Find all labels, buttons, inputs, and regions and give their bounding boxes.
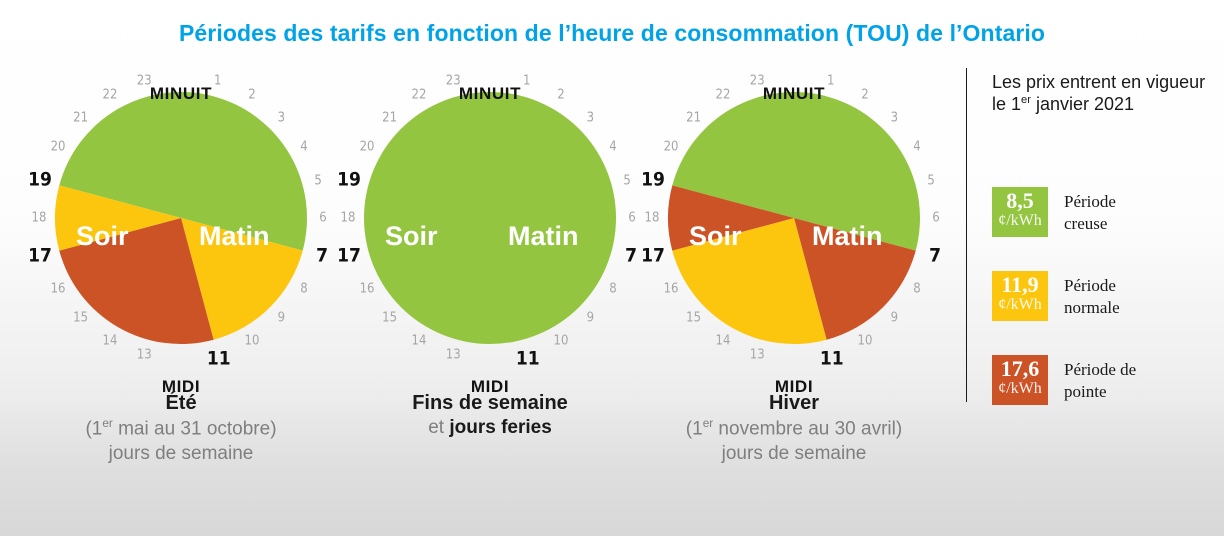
hour-label-8: 8 [913, 283, 920, 296]
price-effective-note: Les prix entrent en vigueur le 1er janvi… [992, 72, 1206, 116]
caption-main: Hiver [633, 390, 955, 416]
caption-sub-2-bold: jours feries [449, 417, 551, 438]
hour-label-14: 14 [412, 334, 427, 347]
legend-row: 8,5¢/kWhPériode creuse [992, 187, 1218, 237]
hour-label-22: 22 [716, 89, 731, 102]
hour-label-22: 22 [412, 89, 427, 102]
hour-label-20: 20 [51, 141, 66, 154]
hour-label-22: 22 [103, 89, 118, 102]
hour-label-17: 17 [28, 246, 52, 265]
legend-label: Période de pointe [1064, 359, 1136, 403]
hour-label-16: 16 [51, 283, 66, 296]
hour-label-21: 21 [382, 111, 397, 124]
hour-label-17: 17 [337, 246, 361, 265]
legend-unit: ¢/kWh [992, 381, 1048, 398]
hour-label-2: 2 [557, 89, 564, 102]
legend-swatch-off_peak: 8,5¢/kWh [992, 187, 1048, 237]
hour-label-3: 3 [278, 111, 285, 124]
charts-row: 12345678910111314151617181920212223MINUI… [0, 70, 966, 490]
hour-label-17: 17 [641, 246, 665, 265]
hour-label-21: 21 [686, 111, 701, 124]
legend-panel: Les prix entrent en vigueur le 1er janvi… [988, 64, 1220, 484]
legend-unit: ¢/kWh [992, 213, 1048, 230]
hour-label-18: 18 [645, 212, 660, 225]
hour-label-2: 2 [248, 89, 255, 102]
hour-label-9: 9 [587, 312, 594, 325]
legend-row: 17,6¢/kWhPériode de pointe [992, 355, 1218, 405]
pie-slice-off_peak [364, 92, 616, 344]
hour-label-18: 18 [32, 212, 47, 225]
caption-ordinal-sup: er [102, 417, 112, 430]
hour-label-6: 6 [319, 212, 326, 225]
hour-label-4: 4 [913, 141, 920, 154]
hour-label-7: 7 [316, 246, 328, 265]
evening-label: Soir [689, 223, 742, 250]
hour-label-19: 19 [337, 171, 361, 190]
clock-fins-de-semaine: 12345678910111314151617181920212223MINUI… [360, 88, 620, 348]
hour-label-3: 3 [891, 111, 898, 124]
hour-label-8: 8 [300, 283, 307, 296]
hour-label-9: 9 [278, 312, 285, 325]
hour-label-16: 16 [360, 283, 375, 296]
hour-label-5: 5 [314, 175, 321, 188]
chart-fins-de-semaine: 12345678910111314151617181920212223MINUI… [329, 70, 651, 490]
caption-hiver: Hiver(1er novembre au 30 avril)jours de … [633, 390, 955, 467]
hour-label-3: 3 [587, 111, 594, 124]
hour-label-11: 11 [207, 350, 231, 369]
hour-label-5: 5 [927, 175, 934, 188]
hour-label-19: 19 [641, 171, 665, 190]
price-legend: 8,5¢/kWhPériode creuse11,9¢/kWhPériode n… [992, 187, 1218, 439]
caption-sub-2: et jours feries [329, 416, 651, 441]
legend-price: 8,5 [992, 187, 1048, 213]
hour-label-21: 21 [73, 111, 88, 124]
clock-ete: 12345678910111314151617181920212223MINUI… [51, 88, 311, 348]
hour-label-18: 18 [341, 212, 356, 225]
legend-row: 11,9¢/kWhPériode normale [992, 271, 1218, 321]
hour-label-10: 10 [245, 334, 260, 347]
caption-sub-2: jours de semaine [20, 442, 342, 467]
morning-label: Matin [508, 223, 579, 250]
legend-swatch-on_peak: 17,6¢/kWh [992, 355, 1048, 405]
hour-label-13: 13 [446, 349, 461, 362]
hour-label-15: 15 [73, 312, 88, 325]
midnight-label: MINUIT [459, 84, 521, 104]
morning-label: Matin [812, 223, 883, 250]
legend-unit: ¢/kWh [992, 297, 1048, 314]
legend-price: 11,9 [992, 271, 1048, 297]
hour-label-1: 1 [214, 74, 221, 87]
caption-sub-1: (1er novembre au 30 avril) [633, 416, 955, 442]
hour-label-9: 9 [891, 312, 898, 325]
midnight-label: MINUIT [763, 84, 825, 104]
caption-main: Été [20, 390, 342, 416]
morning-label: Matin [199, 223, 270, 250]
hour-label-4: 4 [609, 141, 616, 154]
hour-label-13: 13 [750, 349, 765, 362]
legend-swatch-mid_peak: 11,9¢/kWh [992, 271, 1048, 321]
hour-label-20: 20 [664, 141, 679, 154]
caption-fins-de-semaine: Fins de semaineet jours feries [329, 390, 651, 441]
chart-ete: 12345678910111314151617181920212223MINUI… [20, 70, 342, 490]
clock-hiver: 12345678910111314151617181920212223MINUI… [664, 88, 924, 348]
hour-label-4: 4 [300, 141, 307, 154]
note-post: janvier 2021 [1031, 94, 1134, 114]
legend-price: 17,6 [992, 355, 1048, 381]
hour-label-1: 1 [523, 74, 530, 87]
hour-label-14: 14 [103, 334, 118, 347]
evening-label: Soir [76, 223, 129, 250]
hour-label-11: 11 [516, 350, 540, 369]
evening-label: Soir [385, 223, 438, 250]
hour-label-5: 5 [623, 175, 630, 188]
chart-hiver: 12345678910111314151617181920212223MINUI… [633, 70, 955, 490]
hour-label-13: 13 [137, 349, 152, 362]
legend-label: Période creuse [1064, 191, 1116, 235]
hour-label-11: 11 [820, 350, 844, 369]
caption-sub-2: jours de semaine [633, 442, 955, 467]
hour-label-15: 15 [686, 312, 701, 325]
hour-label-7: 7 [929, 246, 941, 265]
hour-label-10: 10 [554, 334, 569, 347]
page-title: Périodes des tarifs en fonction de l’heu… [0, 20, 1224, 47]
hour-label-10: 10 [858, 334, 873, 347]
caption-ete: Été(1er mai au 31 octobre)jours de semai… [20, 390, 342, 467]
hour-label-19: 19 [28, 171, 52, 190]
hour-label-20: 20 [360, 141, 375, 154]
hour-label-2: 2 [861, 89, 868, 102]
hour-label-16: 16 [664, 283, 679, 296]
panel-divider [966, 68, 967, 402]
caption-main: Fins de semaine [329, 390, 651, 416]
caption-ordinal-sup: er [703, 417, 713, 430]
hour-label-6: 6 [932, 212, 939, 225]
legend-label: Période normale [1064, 275, 1120, 319]
hour-label-15: 15 [382, 312, 397, 325]
hour-label-14: 14 [716, 334, 731, 347]
hour-label-1: 1 [827, 74, 834, 87]
midnight-label: MINUIT [150, 84, 212, 104]
note-sup: er [1021, 94, 1031, 106]
hour-label-8: 8 [609, 283, 616, 296]
caption-sub-1: (1er mai au 31 octobre) [20, 416, 342, 442]
